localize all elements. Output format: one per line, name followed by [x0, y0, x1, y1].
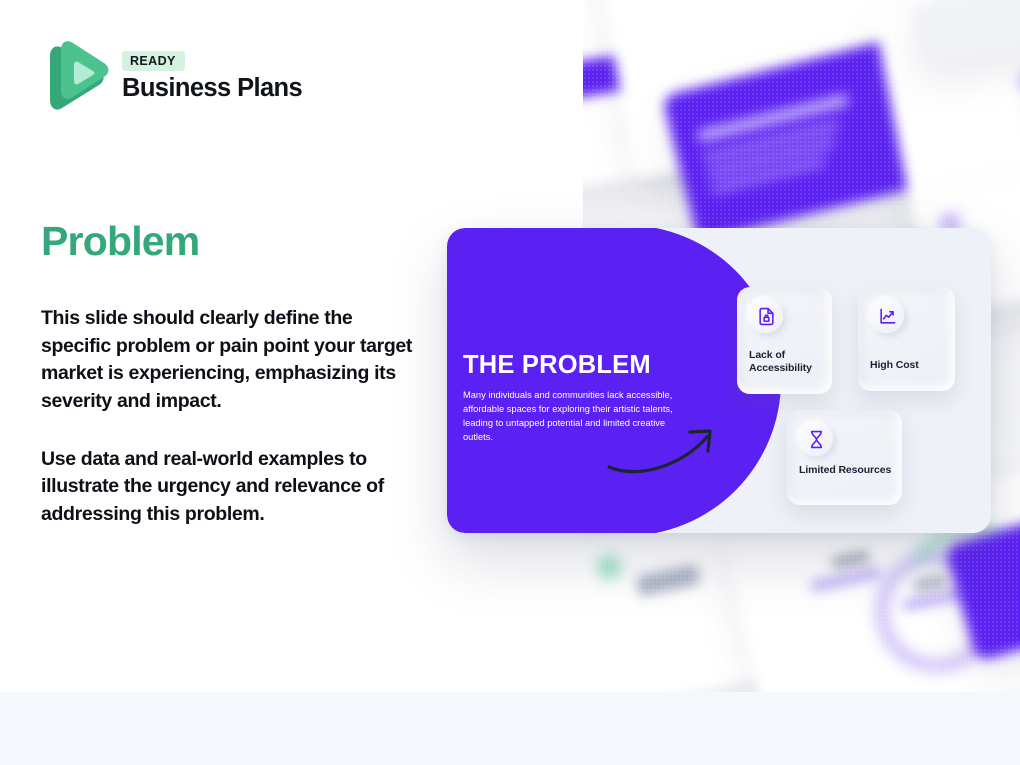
slide-canvas: THE PROBLEM Many individuals and communi… [0, 0, 1020, 765]
brand-text: READY Business Plans [122, 51, 302, 102]
body-paragraph-1: This slide should clearly define the spe… [41, 305, 426, 416]
feature-tile-limited-resources[interactable]: Limited Resources [787, 410, 902, 505]
feature-tile-label: Limited Resources [799, 464, 891, 477]
line-chart-icon [870, 299, 904, 333]
ready-badge: READY [122, 51, 185, 71]
feature-tile-high-cost[interactable]: High Cost [858, 287, 955, 391]
feature-tile-label: Lack of Accessibility [749, 349, 832, 375]
hourglass-icon [799, 422, 833, 456]
feature-tile-label: High Cost [870, 359, 919, 372]
body-copy: This slide should clearly define the spe… [41, 305, 426, 529]
bottom-strip [0, 692, 1020, 765]
body-paragraph-2: Use data and real-world examples to illu… [41, 446, 426, 529]
document-lock-icon [749, 299, 783, 333]
brand-wordmark: Business Plans [122, 75, 302, 102]
play-triangle-logo-icon [41, 40, 109, 112]
feature-tile-accessibility[interactable]: Lack of Accessibility [737, 287, 832, 394]
page-title: Problem [41, 218, 199, 265]
brand-lockup: READY Business Plans [41, 40, 302, 112]
curved-arrow-icon [607, 413, 737, 478]
slide-preview-heading: THE PROBLEM [463, 352, 688, 379]
